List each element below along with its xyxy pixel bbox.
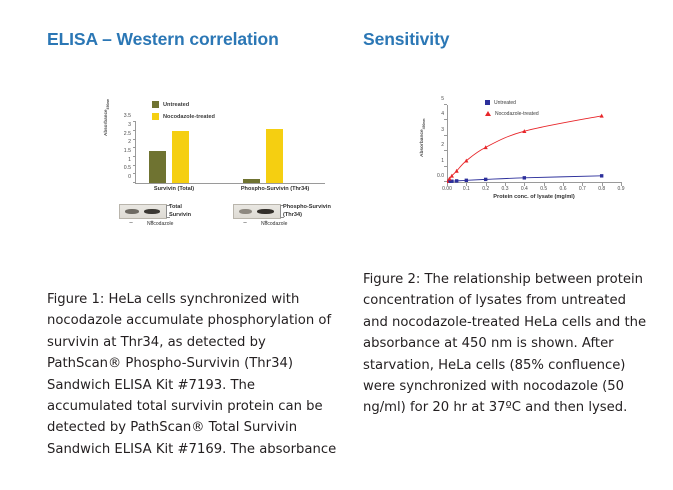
- bar-phospho-nocodazole: [266, 129, 283, 183]
- data-point-marker: [523, 176, 526, 179]
- y-tick: [133, 139, 136, 140]
- blot-total-survivin: TotalSurvivin – + Nocodazole: [119, 204, 167, 219]
- data-point-marker: [600, 174, 603, 177]
- x-category-label-phospho: Phospho-Survivin (Thr34): [241, 186, 309, 192]
- x-tick-label: 0.3: [502, 186, 509, 192]
- legend-label-untreated: Untreated: [163, 102, 189, 108]
- y-tick-label: 3.5: [124, 113, 131, 119]
- bar-survivin-untreated: [149, 151, 166, 183]
- x-tick-label: 0.00: [442, 186, 452, 192]
- y-tick-label: 0: [128, 174, 131, 180]
- line-chart-plot-area: 0.0 1 2 3 4 5 0.00 0.1 0.2 0.3: [447, 105, 622, 183]
- y-tick-label: 4: [441, 111, 444, 117]
- blot-band: [144, 209, 160, 214]
- x-tick-label: 0.8: [598, 186, 605, 192]
- x-tick-label: 0.2: [482, 186, 489, 192]
- blot-treatment-label: Nocodazole: [261, 221, 287, 227]
- data-point-marker: [465, 179, 468, 182]
- blot-band: [257, 209, 274, 214]
- legend-item-untreated: Untreated: [152, 100, 215, 109]
- blot-image-phospho-survivin: [233, 204, 281, 219]
- right-column-heading: Sensitivity: [363, 28, 653, 50]
- legend-swatch-untreated: [152, 101, 159, 108]
- line-chart-y-axis-title: Absorbance450nm: [420, 119, 426, 157]
- y-tick: [133, 147, 136, 148]
- blot-band: [125, 209, 139, 214]
- bar-phospho-untreated: [243, 179, 260, 183]
- y-tick-label: 5: [441, 96, 444, 102]
- y-tick: [133, 130, 136, 131]
- left-column: ELISA – Western correlation Untreated No…: [47, 0, 347, 490]
- x-tick-label: 0.7: [579, 186, 586, 192]
- figure-page: ELISA – Western correlation Untreated No…: [0, 0, 673, 490]
- western-blot-panels: TotalSurvivin – + Nocodazole Phospho-Sur…: [105, 204, 340, 242]
- x-tick-label: 0.6: [560, 186, 567, 192]
- x-tick-label: 0.4: [521, 186, 528, 192]
- blot-label-total-survivin: TotalSurvivin: [169, 203, 191, 219]
- y-tick-label: 1: [441, 158, 444, 164]
- x-tick-label: 0.5: [540, 186, 547, 192]
- y-tick-label: 2: [441, 142, 444, 148]
- figure-1-bar-chart: Untreated Nocodazole-treated Absorbance4…: [95, 96, 340, 246]
- bar-chart-y-axis-title: Absorbance450nm: [103, 99, 110, 136]
- y-tick: [133, 182, 136, 183]
- blot-label-phospho-survivin: Phospho-Survivin(Thr34): [283, 203, 331, 219]
- y-tick-label: 1.5: [124, 148, 131, 154]
- bar-survivin-nocodazole: [172, 131, 189, 183]
- left-column-heading: ELISA – Western correlation: [47, 28, 337, 50]
- figure-2-line-chart: Untreated Nocodazole-treated Absorbance4…: [413, 95, 663, 210]
- bar-chart-y-axis: [135, 122, 136, 184]
- blot-band: [239, 209, 252, 214]
- blot-phospho-survivin: Phospho-Survivin(Thr34) – + Nocodazole: [233, 204, 281, 219]
- y-tick-label: 3: [128, 122, 131, 128]
- line-chart-x-axis-title: Protein conc. of lysate (mg/ml): [493, 194, 574, 200]
- blot-lane-minus: –: [243, 220, 246, 226]
- legend-swatch-nocodazole: [152, 113, 159, 120]
- blot-image-total-survivin: [119, 204, 167, 219]
- legend-item-nocodazole: Nocodazole-treated: [152, 112, 215, 121]
- legend-label-nocodazole: Nocodazole-treated: [163, 114, 215, 120]
- y-tick-label: 3: [441, 127, 444, 133]
- data-point-marker: [484, 145, 488, 149]
- y-tick-label: 2.5: [124, 131, 131, 137]
- blot-treatment-label: Nocodazole: [147, 221, 173, 227]
- y-tick-label: 2: [128, 139, 131, 145]
- figure-1-caption: Figure 1: HeLa cells synchronized with n…: [47, 289, 337, 460]
- bar-chart-legend: Untreated Nocodazole-treated: [152, 100, 215, 124]
- blot-lane-minus: –: [129, 220, 132, 226]
- line-chart-series-svg: [447, 105, 622, 183]
- y-tick-label: 0.5: [124, 165, 131, 171]
- bar-chart-plot-area: 0 0.5 1 1.5 2 2.5 3 3.5 Su: [135, 122, 325, 184]
- data-point-marker: [484, 178, 487, 181]
- y-tick: [133, 173, 136, 174]
- y-tick: [133, 121, 136, 122]
- y-tick: [133, 156, 136, 157]
- data-point-marker: [455, 179, 458, 182]
- line-series-nocodazole: [447, 116, 602, 181]
- y-tick: [133, 165, 136, 166]
- x-category-label-survivin: Survivin (Total): [154, 186, 194, 192]
- right-column: Sensitivity Untreated Nocodazole-treated…: [363, 0, 663, 490]
- y-tick-label: 1: [128, 157, 131, 163]
- figure-2-caption: Figure 2: The relationship between prote…: [363, 269, 653, 419]
- bar-chart-x-axis: [135, 183, 325, 184]
- x-tick-label: 0.1: [463, 186, 470, 192]
- x-tick-label: 0.9: [618, 186, 625, 192]
- y-tick-label: 0.0: [437, 173, 444, 179]
